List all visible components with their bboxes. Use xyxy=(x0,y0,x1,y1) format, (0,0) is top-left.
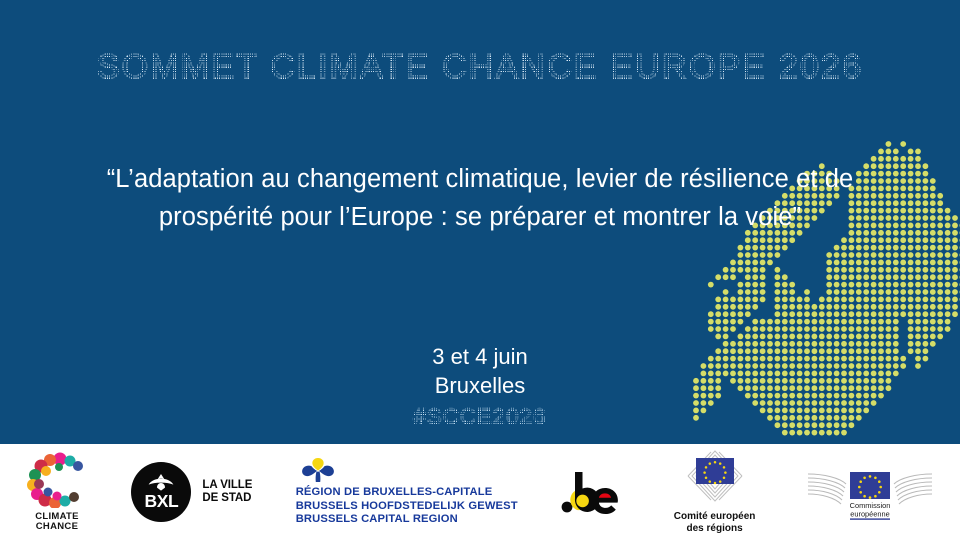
event-city: Bruxelles xyxy=(0,371,960,400)
bxl-tagline-line-2: DE STAD xyxy=(202,492,252,505)
event-hashtag-text: #SCCE2026 xyxy=(413,404,546,429)
cor-label-line-2: des régions xyxy=(674,523,756,535)
european-commission-icon: Commission européenne xyxy=(806,464,934,520)
event-quote: “L’adaptation au changement climatique, … xyxy=(60,160,900,236)
bxl-tagline-line-1: LA VILLE xyxy=(202,479,252,492)
page-title: SOMMET CLIMATE CHANCE EUROPE 2026 xyxy=(0,48,960,87)
logo-climate-chance: CLIMATE CHANCE xyxy=(26,452,88,533)
sponsor-logo-bar: CLIMATE CHANCE BXL LA VILLE DE STAD xyxy=(0,444,960,540)
cor-icon xyxy=(667,450,763,507)
logo-brussels-capital-region: RÉGION DE BRUXELLES-CAPITALE BRUSSELS HO… xyxy=(296,457,518,527)
logo-bxl: BXL LA VILLE DE STAD xyxy=(131,462,252,522)
poster-canvas: SOMMET CLIMATE CHANCE EUROPE 2026 “L’ada… xyxy=(0,0,960,540)
iris-icon xyxy=(298,457,338,483)
cor-label-line-1: Comité européen xyxy=(674,511,756,523)
event-details: 3 et 4 juin Bruxelles #SCCE2026 xyxy=(0,342,960,432)
brx-label-line-1: RÉGION DE BRUXELLES-CAPITALE xyxy=(296,486,518,500)
quote-line-1: “L’adaptation au changement climatique, … xyxy=(107,165,854,193)
dot-be-icon xyxy=(561,470,623,514)
bxl-wordmark: BXL xyxy=(145,492,179,510)
event-date: 3 et 4 juin xyxy=(0,342,960,371)
event-hashtag: #SCCE2026 xyxy=(413,402,546,432)
bxl-icon: BXL xyxy=(131,462,191,522)
logo-european-commission: Commission européenne xyxy=(806,464,934,520)
brx-label-line-3: BRUSSELS CAPITAL REGION xyxy=(296,513,518,527)
climate-chance-label-line-2: CHANCE xyxy=(35,522,79,533)
page-title-text: SOMMET CLIMATE CHANCE EUROPE 2026 xyxy=(97,48,864,86)
ec-label-line-2: européenne xyxy=(850,509,889,518)
quote-line-2: prospérité pour l’Europe : se préparer e… xyxy=(60,198,900,236)
brx-label-line-2: BRUSSELS HOOFDSTEDELIJK GEWEST xyxy=(296,500,518,514)
logo-belgium-dot-be xyxy=(561,470,623,514)
bxl-tagline: LA VILLE DE STAD xyxy=(202,479,252,505)
climate-chance-icon xyxy=(26,452,88,508)
logo-european-committee-of-the-regions: Comité européen des régions xyxy=(667,450,763,535)
